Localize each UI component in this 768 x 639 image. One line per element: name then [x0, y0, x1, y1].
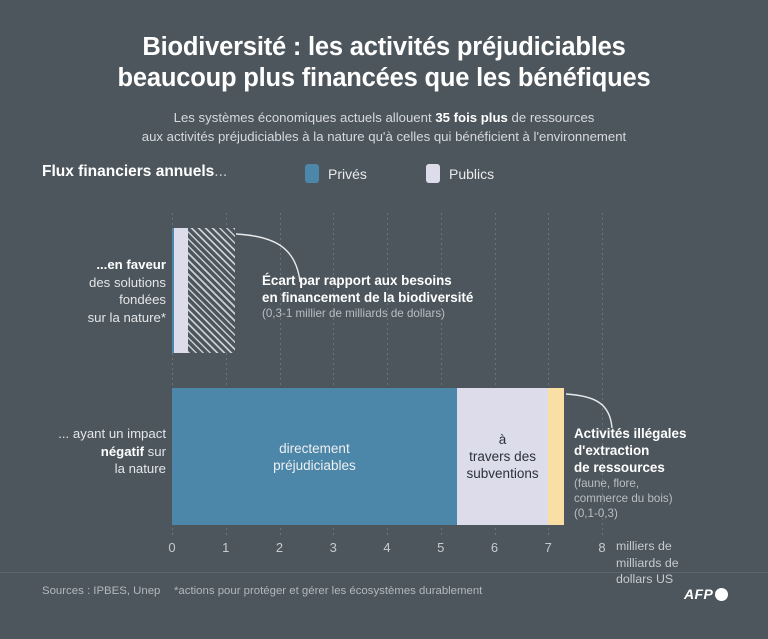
x-tick-label-3: 3 [321, 540, 345, 555]
subtitle-highlight: 35 fois plus [435, 110, 508, 125]
x-tick-label-2: 2 [268, 540, 292, 555]
callout-illegal-line2: d'extraction [574, 442, 764, 459]
axis-unit-line3: dollars US [616, 571, 679, 588]
callout-illegal-line3: de ressources [574, 459, 764, 476]
bar-segment[interactable]: directementpréjudiciables [172, 388, 457, 525]
side-label-positive-line3: fondées [119, 292, 166, 307]
bar-nature-positive[interactable] [172, 228, 235, 353]
x-tick-label-6: 6 [483, 540, 507, 555]
subtitle-line-1: Les systèmes économiques actuels allouen… [0, 108, 768, 127]
callout-gap-line1: Écart par rapport aux besoins [262, 272, 512, 289]
x-tick-label-7: 7 [536, 540, 560, 555]
bar-segment[interactable] [188, 228, 235, 353]
side-label-positive-line1: ...en faveur [96, 257, 166, 272]
bar-segment[interactable] [548, 388, 564, 525]
x-axis-unit-label: milliers de milliards de dollars US [616, 538, 679, 588]
legend-item-public[interactable]: Publics [426, 164, 494, 183]
bar-segment-label: àtravers des subventions [457, 388, 548, 525]
side-label-negative-bold: négatif [101, 444, 144, 459]
title-line-1: Biodiversité : les activités préjudiciab… [0, 32, 768, 63]
subtitle-line-2: aux activités préjudiciables à la nature… [0, 127, 768, 146]
callout-illegal-activities: Activités illégales d'extraction de ress… [574, 425, 764, 521]
afp-dot-icon [715, 588, 728, 601]
legend-label-public: Publics [449, 166, 494, 182]
callout-gap-sub: (0,3-1 millier de milliards de dollars) [262, 306, 512, 321]
axis-unit-line2: milliards de [616, 555, 679, 572]
callout-illegal-sub3: (0,1-0,3) [574, 506, 764, 521]
x-tick-label-5: 5 [429, 540, 453, 555]
title-line-2: beaucoup plus financées que les bénéfiqu… [0, 63, 768, 94]
x-tick-label-1: 1 [214, 540, 238, 555]
bar-nature-negative[interactable]: directementpréjudiciablesàtravers des su… [172, 388, 564, 525]
leader-line-illegal [566, 394, 612, 428]
bar-segment[interactable] [174, 228, 188, 353]
legend-item-private[interactable]: Privés [305, 164, 367, 183]
infographic-canvas: Biodiversité : les activités préjudiciab… [0, 0, 768, 639]
flux-label-text: Flux financiers annuels [42, 163, 214, 180]
x-tick-label-4: 4 [375, 540, 399, 555]
side-label-negative: ... ayant un impact négatif sur la natur… [20, 425, 166, 478]
callout-illegal-sub1: (faune, flore, [574, 476, 764, 491]
afp-wordmark: AFP [684, 586, 713, 602]
side-label-negative-line2-after: sur [144, 444, 166, 459]
side-label-positive-line2: des solutions [89, 275, 166, 290]
side-label-negative-line3: la nature [115, 461, 166, 476]
side-label-negative-line1: ... ayant un impact [58, 426, 166, 441]
sources-text: Sources : IPBES, Unep [42, 585, 160, 597]
callout-illegal-sub2: commerce du bois) [574, 491, 764, 506]
footer-divider [0, 572, 768, 573]
legend-swatch-public-icon [426, 164, 440, 183]
footnote-text: *actions pour protéger et gérer les écos… [174, 585, 482, 597]
subtitle-text-before: Les systèmes économiques actuels allouen… [174, 110, 436, 125]
bar-segment-label: directementpréjudiciables [172, 388, 457, 525]
subtitle-text-after: de ressources [508, 110, 595, 125]
side-label-positive-line4: sur la nature* [88, 310, 166, 325]
x-tick-label-0: 0 [160, 540, 184, 555]
flux-label-ellipsis: ... [214, 163, 227, 180]
afp-logo: AFP [684, 586, 728, 602]
side-label-positive: ...en faveur des solutions fondées sur l… [40, 256, 166, 326]
subtitle: Les systèmes économiques actuels allouen… [0, 108, 768, 146]
legend-swatch-private-icon [305, 164, 319, 183]
callout-financing-gap: Écart par rapport aux besoins en finance… [262, 272, 512, 321]
bar-segment[interactable]: àtravers des subventions [457, 388, 548, 525]
callout-illegal-line1: Activités illégales [574, 425, 764, 442]
legend-label-private: Privés [328, 166, 367, 182]
page-title: Biodiversité : les activités préjudiciab… [0, 32, 768, 94]
callout-gap-line2: en financement de la biodiversité [262, 289, 512, 306]
flux-label: Flux financiers annuels... [42, 163, 227, 181]
axis-unit-line1: milliers de [616, 538, 679, 555]
x-tick-label-8: 8 [590, 540, 614, 555]
